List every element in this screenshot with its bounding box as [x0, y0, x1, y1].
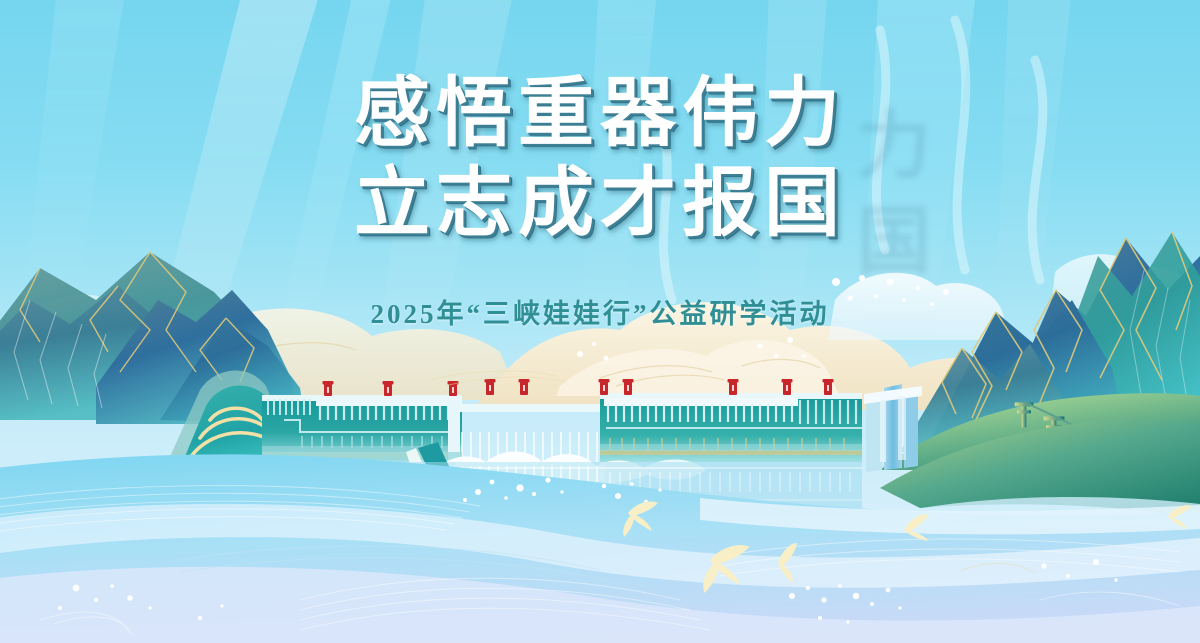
poster-title-line-2: 立志成才报国: [0, 162, 1200, 246]
poster-banner: 力 国 感悟重器伟力 立志成才报国 2025年“三峡娃娃行”公益研学活动: [0, 0, 1200, 643]
poster-title-line-1: 感悟重器伟力: [0, 72, 1200, 156]
poster-subtitle: 2025年“三峡娃娃行”公益研学活动: [0, 292, 1200, 331]
poster-title-block: 感悟重器伟力 立志成才报国: [0, 72, 1200, 246]
ship-lock: [864, 384, 922, 472]
